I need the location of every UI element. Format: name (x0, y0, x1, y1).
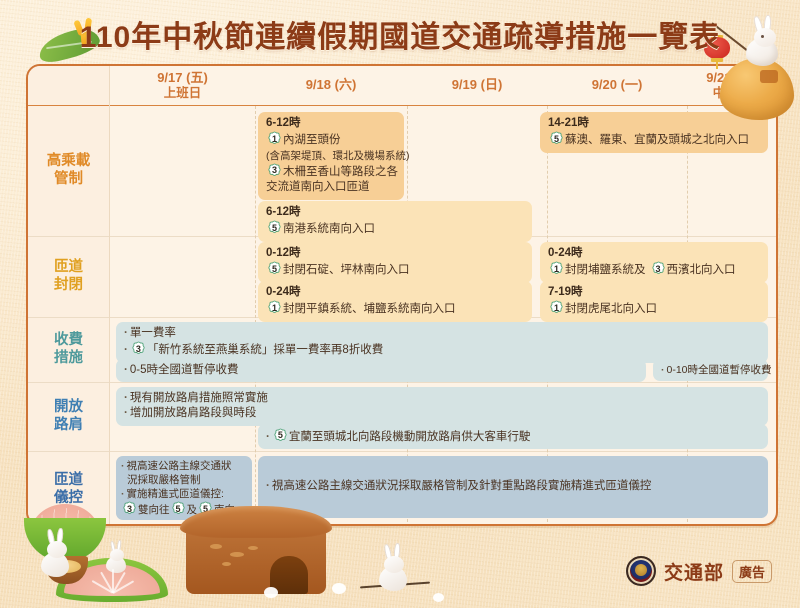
row-toll: ·單一費率 ·3「新竹系統至燕巢系統」採單一費率再8折收費 ·0-5時全國道暫停… (110, 318, 776, 383)
hov-sat2-time: 6-12時 (266, 205, 524, 220)
row-label-ramp-closure: 匝道封閉 (28, 237, 109, 318)
agency-name: 交通部 (664, 558, 724, 585)
toll-l3: 0-5時全國道暫停收費 (130, 364, 239, 376)
highway-badge-icon: 5 (198, 501, 213, 516)
ramp-wide-text: 視高速公路主線交通狀況採取嚴格管制及針對重點路段實施精進式匝道儀控 (272, 480, 652, 492)
row-label-hov: 高乘載管制 (28, 106, 109, 237)
row-shoulder: ·現有開放路肩措施照常實施 ·增加開放路肩路段與時段 ·5宜蘭至頭城北向路段機動… (110, 383, 776, 452)
col-header-0919: 9/19 (日) (407, 66, 547, 105)
highway-badge-icon: 3 (651, 261, 666, 276)
cell-toll-left: ·0-5時全國道暫停收費 (116, 359, 646, 382)
close-sat1-time: 0-12時 (266, 246, 524, 261)
hov-sat2-text: 南港系統南向入口 (283, 223, 375, 235)
cell-hov-0918-b: 6-12時 5南港系統南向入口 (258, 201, 532, 242)
close-sat2-time: 0-24時 (266, 285, 524, 300)
row-hov: 6-12時 1內湖至頭份 (含高架堤頂、環北及機場系統) 3木柵至香山等路段之各… (110, 106, 776, 237)
highway-badge-icon: 5 (171, 501, 186, 516)
cell-shoulder-span: ·現有開放路肩措施照常實施 ·增加開放路肩路段與時段 (116, 387, 768, 426)
schedule-body: 9/17 (五)上班日 9/18 (六) 9/19 (日) 9/20 (一) 9… (110, 66, 776, 526)
highway-badge-icon: 1 (549, 261, 564, 276)
toll-l1: 單一費率 (130, 327, 176, 339)
cell-ramp-0917: ·視高速公路主線交通狀 況採取嚴格管制 ·實施精進式匝道儀控: 3雙向往5及5南… (116, 456, 252, 520)
shoulder-l2: 增加開放路肩路段與時段 (130, 407, 257, 419)
hov-sat-l4-text: 交流道南向入口匝道 (266, 180, 396, 195)
cell-close-0918-a: 0-12時 5封閉石碇、坪林南向入口 (258, 242, 532, 283)
toll-l2-text: 「新竹系統至燕巢系統」採單一費率再8折收費 (147, 344, 383, 356)
column-separator-1 (255, 106, 256, 526)
measures-table: 高乘載管制 匝道封閉 收費措施 開放路肩 匝道儀控 9/17 (五)上班日 (26, 64, 778, 526)
highway-badge-icon: 3 (131, 341, 146, 356)
highway-badge-icon: 1 (549, 300, 564, 315)
cell-hov-0918-a: 6-12時 1內湖至頭份 (含高架堤頂、環北及機場系統) 3木柵至香山等路段之各… (258, 112, 404, 200)
cell-close-0920-b: 7-19時 1封閉虎尾北向入口 (540, 281, 768, 322)
row-label-toll: 收費措施 (28, 318, 109, 383)
measure-rows: 6-12時 1內湖至頭份 (含高架堤頂、環北及機場系統) 3木柵至香山等路段之各… (110, 106, 776, 526)
category-label-column: 高乘載管制 匝道封閉 收費措施 開放路肩 匝道儀控 (28, 66, 110, 526)
close-mon2-time: 7-19時 (548, 285, 760, 300)
hov-sat-l1-text: 內湖至頭份 (283, 134, 341, 146)
highway-badge-icon: 5 (267, 220, 282, 235)
hov-mon-time: 14-21時 (548, 116, 760, 131)
cell-ramp-wide: ·視高速公路主線交通狀況採取嚴格管制及針對重點路段實施精進式匝道儀控 (258, 456, 768, 518)
hov-sat-l2-text: (含高架堤頂、環北及機場系統) (266, 149, 396, 163)
date-header-row: 9/17 (五)上班日 9/18 (六) 9/19 (日) 9/20 (一) 9… (110, 66, 776, 106)
cell-toll-0921: ·0-10時全國道暫停收費 (653, 359, 768, 381)
motc-emblem-icon (626, 556, 656, 586)
ramp-t1: 雙向往 (138, 504, 170, 516)
cell-hov-0920: 14-21時 5蘇澳、羅東、宜蘭及頭城之北向入口 (540, 112, 768, 153)
hov-mon-text: 蘇澳、羅東、宜蘭及頭城之北向入口 (565, 134, 749, 146)
row-label-shoulder: 開放路肩 (28, 383, 109, 452)
cell-close-0920-a: 0-24時 1封閉埔鹽系統及3西濱北向入口 (540, 242, 768, 283)
hov-sat-l3-text: 木柵至香山等路段之各 (283, 166, 398, 178)
shoulder-l1: 現有開放路肩措施照常實施 (130, 392, 268, 404)
close-mon2-text: 封閉虎尾北向入口 (565, 303, 657, 315)
ramp-l1b: 況採取嚴格管制 (127, 474, 201, 486)
col-header-0920: 9/20 (一) (547, 66, 687, 105)
row-ramp-closure: 0-12時 5封閉石碇、坪林南向入口 0-24時 1封閉平鎮系統、埔鹽系統南向入… (110, 237, 776, 318)
highway-badge-icon: 5 (267, 261, 282, 276)
highway-badge-icon: 5 (273, 428, 288, 443)
page-title: 110年中秋節連續假期國道交通疏導措施一覽表 (0, 12, 800, 56)
cell-toll-span: ·單一費率 ·3「新竹系統至燕巢系統」採單一費率再8折收費 (116, 322, 768, 363)
cell-shoulder-wide: ·5宜蘭至頭城北向路段機動開放路肩供大客車行駛 (258, 424, 768, 449)
highway-badge-icon: 5 (549, 131, 564, 146)
cell-close-0918-b: 0-24時 1封閉平鎮系統、埔鹽系統南向入口 (258, 281, 532, 322)
col-header-0918: 9/18 (六) (255, 66, 407, 105)
footer-agency: 交通部 廣告 (626, 556, 772, 586)
ramp-l2: 實施精進式匝道儀控: (127, 488, 224, 500)
ramp-l1a: 視高速公路主線交通狀 (127, 460, 232, 472)
close-mon1-time: 0-24時 (548, 246, 760, 261)
close-sat2-text: 封閉平鎮系統、埔鹽系統南向入口 (283, 303, 456, 315)
shoulder-wide-text: 宜蘭至頭城北向路段機動開放路肩供大客車行駛 (289, 431, 531, 443)
col-header-0917: 9/17 (五)上班日 (110, 66, 255, 105)
highway-badge-icon: 1 (267, 300, 282, 315)
ad-label: 廣告 (732, 560, 772, 583)
close-mon1-text-a: 封閉埔鹽系統及 (565, 264, 646, 276)
highway-badge-icon: 1 (267, 131, 282, 146)
row-label-ramp-metering: 匝道儀控 (28, 452, 109, 526)
ramp-t3: 南向 (214, 504, 235, 516)
row-ramp-metering: ·視高速公路主線交通狀 況採取嚴格管制 ·實施精進式匝道儀控: 3雙向往5及5南… (110, 452, 776, 526)
highway-badge-icon: 3 (122, 501, 137, 516)
close-mon1-text-b: 西濱北向入口 (667, 264, 736, 276)
highway-badge-icon: 3 (267, 163, 282, 178)
toll-r1: 0-10時全國道暫停收費 (667, 364, 772, 376)
ramp-t2: 及 (187, 504, 198, 516)
hov-sat-time: 6-12時 (266, 116, 396, 131)
close-sat1-text: 封閉石碇、坪林南向入口 (283, 264, 410, 276)
col-header-0921: 9/21 (二)中秋節 (687, 66, 776, 105)
